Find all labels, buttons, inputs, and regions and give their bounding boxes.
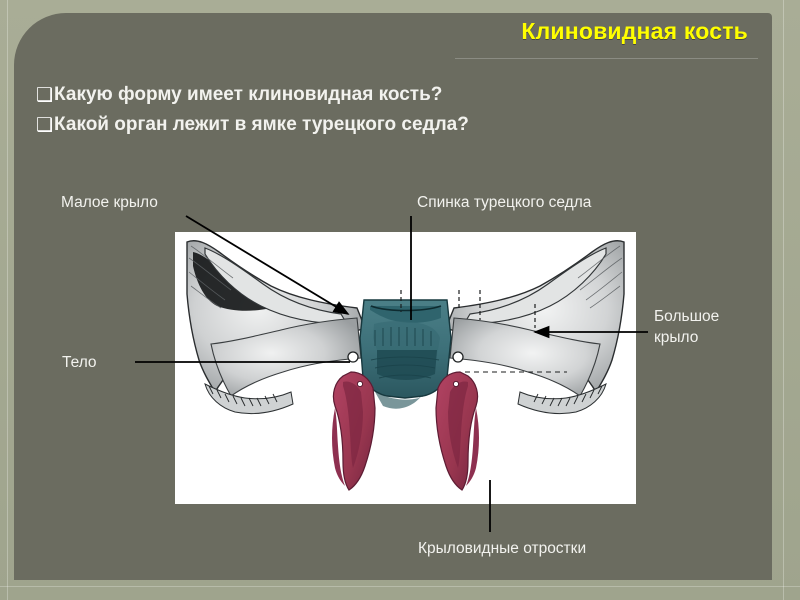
label-body: Тело [62, 352, 97, 373]
question-text: Какой орган лежит в ямке турецкого седла… [54, 112, 469, 138]
list-item: ❑ Какую форму имеет клиновидная кость? [36, 82, 596, 108]
frame-line-right [783, 0, 784, 600]
label-greater-wing-line1: Большое [654, 306, 764, 327]
square-bullet-icon: ❑ [36, 82, 53, 108]
frame-line-left [7, 0, 8, 600]
foramen-right [453, 352, 463, 362]
label-greater-wing-line2: крыло [654, 327, 764, 348]
list-item: ❑ Какой орган лежит в ямке турецкого сед… [36, 112, 596, 138]
frame-line-bottom [0, 586, 800, 587]
label-pterygoid-processes: Крыловидные отростки [418, 538, 586, 559]
sphenoid-bone-illustration [175, 232, 636, 504]
label-dorsum-sellae: Спинка турецкого седла [417, 192, 591, 213]
label-greater-wing: Большое крыло [654, 306, 764, 348]
label-lesser-wing: Малое крыло [61, 192, 158, 213]
pterygoid-canal-left [357, 381, 362, 386]
title-underline [455, 58, 758, 59]
question-text: Какую форму имеет клиновидная кость? [54, 82, 442, 108]
sphenoid-bone-figure [175, 232, 636, 504]
slide: Клиновидная кость ❑ Какую форму имеет кл… [0, 0, 800, 600]
foramen-left [348, 352, 358, 362]
title-bar: Клиновидная кость [455, 12, 758, 56]
page-title: Клиновидная кость [521, 18, 748, 45]
pterygoid-canal-right [453, 381, 458, 386]
question-list: ❑ Какую форму имеет клиновидная кость? ❑… [36, 82, 596, 142]
square-bullet-icon: ❑ [36, 112, 53, 138]
